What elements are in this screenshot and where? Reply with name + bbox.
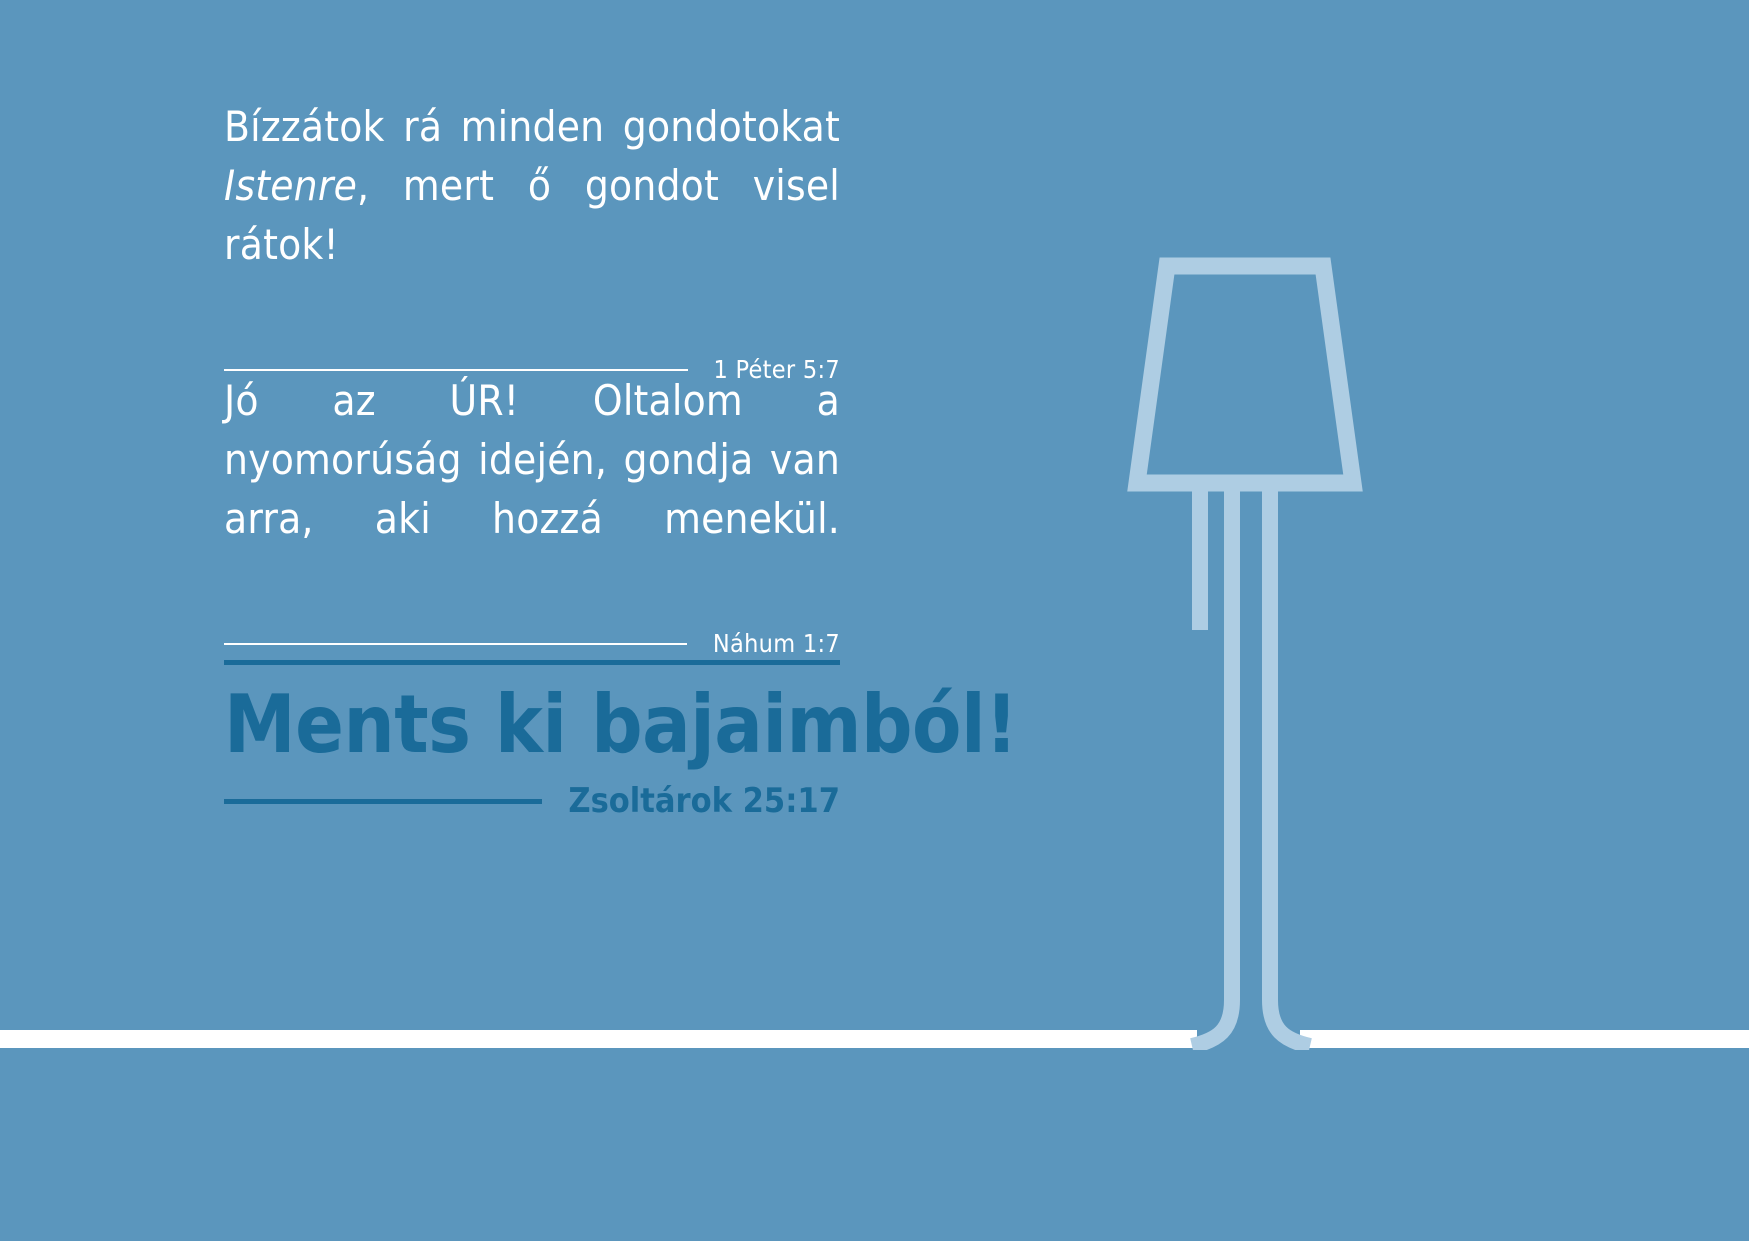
verse-block-2: Jó az ÚR! Oltalom a nyomorúság idején, g…	[224, 372, 840, 658]
lamp-base-right-icon	[1270, 1000, 1310, 1046]
verse-2-reference-row: Náhum 1:7	[224, 629, 840, 658]
verse-3-reference-rule	[224, 799, 542, 804]
floor-lamp-illustration	[1110, 240, 1410, 1050]
poster-canvas: Bízzátok rá minden gondotokat Istenre, m…	[0, 0, 1749, 1241]
headline-text: Ments ki bajaimból!	[224, 683, 840, 767]
verse-block-1: Bízzátok rá minden gondotokat Istenre, m…	[224, 98, 840, 384]
verse-2-reference-rule	[224, 643, 687, 645]
floor-baseline-left	[0, 1030, 1197, 1048]
lamp-shade-icon	[1137, 266, 1353, 483]
verse-3-reference-label: Zsoltárok 25:17	[568, 781, 840, 821]
verse-1-italic-word: Istenre	[224, 161, 357, 210]
verse-block-3: Ments ki bajaimból! Zsoltárok 25:17	[224, 660, 840, 821]
verse-1-reference-rule	[224, 369, 688, 371]
verse-1-text-part-1: Bízzátok rá minden gondotokat	[224, 102, 840, 151]
lamp-base-left-icon	[1192, 1000, 1232, 1046]
verse-1-text: Bízzátok rá minden gondotokat Istenre, m…	[224, 98, 840, 333]
verse-3-reference-row: Zsoltárok 25:17	[224, 781, 840, 821]
verse-2-reference-label: Náhum 1:7	[713, 629, 840, 658]
headline-top-rule	[224, 660, 840, 665]
verse-2-text: Jó az ÚR! Oltalom a nyomorúság idején, g…	[224, 372, 840, 607]
